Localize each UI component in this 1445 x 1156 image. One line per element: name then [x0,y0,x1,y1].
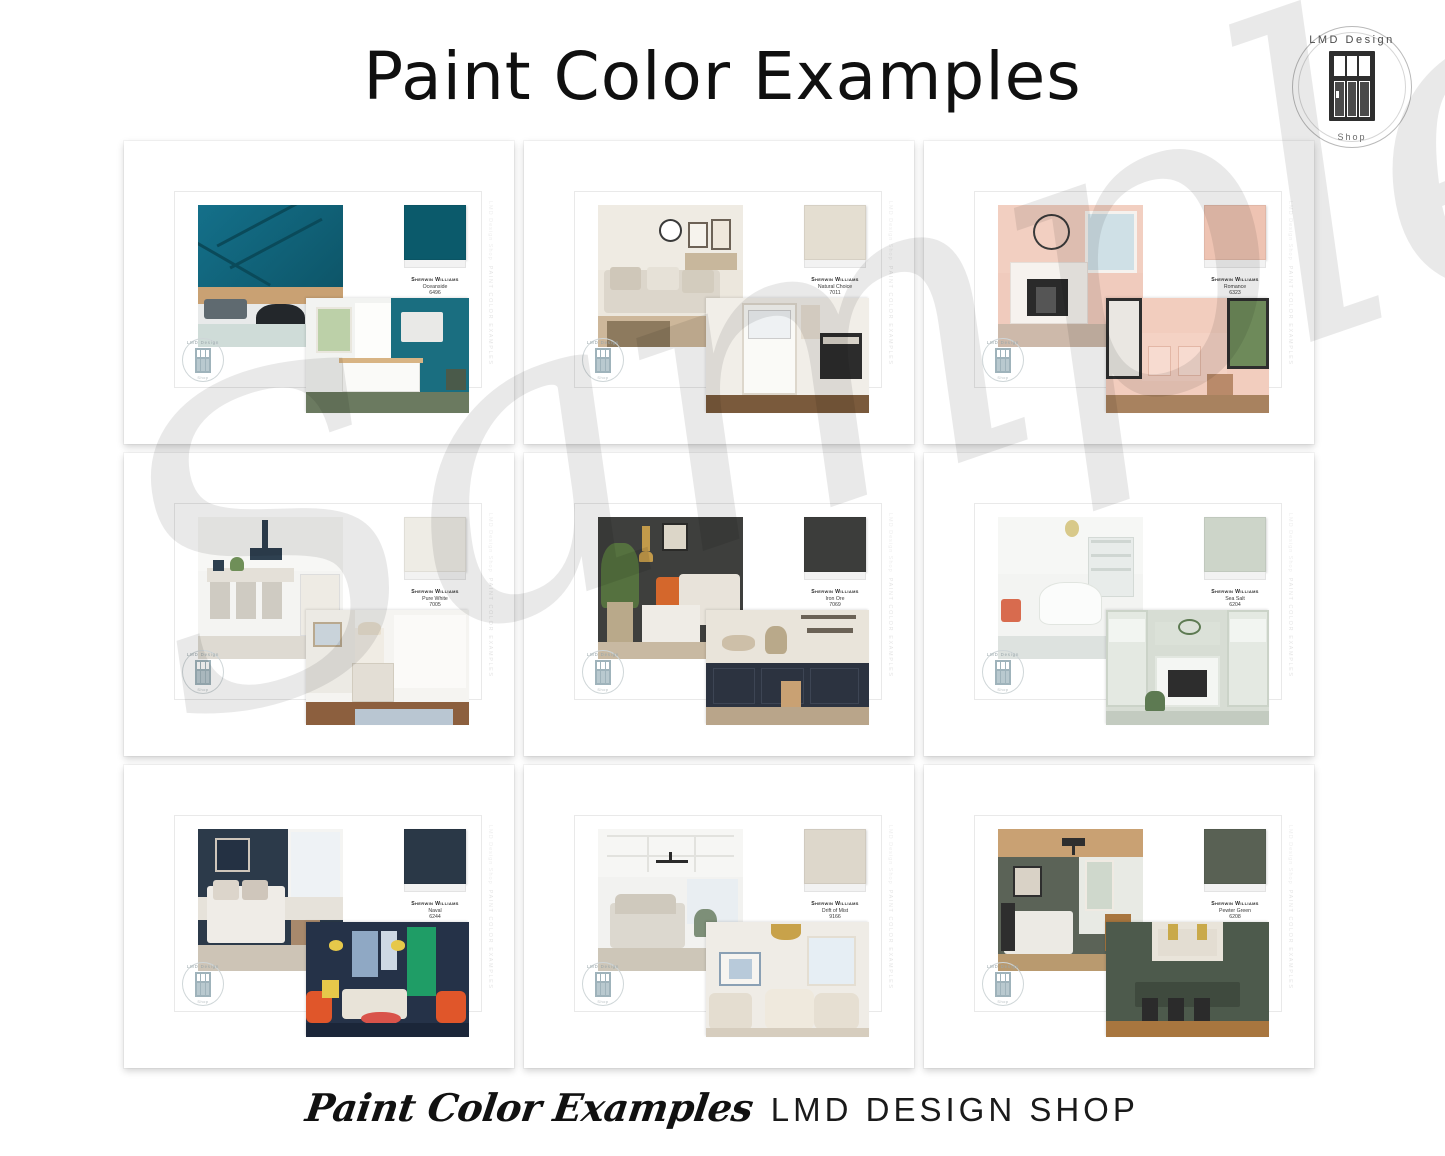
room-photo-secondary [1106,298,1269,413]
footer: Paint Color Examples LMD DESIGN SHOP [0,1085,1445,1130]
paint-color-card[interactable]: Sherwin Williams Sea Salt 6204 LMD Desig… [924,453,1314,756]
paint-brand: Sherwin Williams [1182,589,1288,595]
card-side-text: LMD Design Shop PAINT COLOR EXAMPLES [1287,201,1293,431]
paint-brand: Sherwin Williams [382,277,488,283]
paint-chip [404,829,466,895]
paint-brand: Sherwin Williams [382,901,488,907]
door-icon [595,660,611,685]
door-icon [195,660,211,685]
card-side-text: LMD Design Shop PAINT COLOR EXAMPLES [487,201,493,431]
paint-brand: Sherwin Williams [782,277,888,283]
card-side-text: LMD Design Shop PAINT COLOR EXAMPLES [1287,825,1293,1055]
card-lmd-logo: LMD Design Shop [982,962,1024,1006]
paint-color-code: 6244 [382,914,488,920]
room-photo-secondary [706,610,869,725]
paint-chip-label: Sherwin Williams Iron Ore 7069 [782,589,888,608]
paint-chip [804,829,866,895]
paint-chip-label: Sherwin Williams Naval 6244 [382,901,488,920]
room-photo-secondary [1106,922,1269,1037]
paint-color-card[interactable]: Sherwin Williams Oceanside 6496 LMD Desi… [124,141,514,444]
room-photo-secondary [306,610,469,725]
card-side-text: LMD Design Shop PAINT COLOR EXAMPLES [487,513,493,743]
paint-color-card[interactable]: Sherwin Williams Drift of Mist 9166 LMD … [524,765,914,1068]
paint-swatch [1204,517,1266,572]
paint-color-card[interactable]: Sherwin Williams Romance 6323 LMD Design… [924,141,1314,444]
paint-swatch [804,205,866,260]
card-side-text: LMD Design Shop PAINT COLOR EXAMPLES [887,201,893,431]
paint-color-card[interactable]: Sherwin Williams Iron Ore 7069 LMD Desig… [524,453,914,756]
paint-brand: Sherwin Williams [1182,277,1288,283]
paint-brand: Sherwin Williams [1182,901,1288,907]
paint-chip [804,205,866,271]
paint-swatch [1204,829,1266,884]
paint-chip-label: Sherwin Williams Romance 6323 [1182,277,1288,296]
card-side-text: LMD Design Shop PAINT COLOR EXAMPLES [887,513,893,743]
paint-chip [1204,829,1266,895]
paint-chip-label: Sherwin Williams Sea Salt 6204 [1182,589,1288,608]
paint-color-card[interactable]: Sherwin Williams Naval 6244 LMD Design S… [124,765,514,1068]
paint-swatch [804,829,866,884]
paint-color-code: 9166 [782,914,888,920]
room-photo-secondary [1106,610,1269,725]
room-photo-secondary [306,922,469,1037]
card-side-text: LMD Design Shop PAINT COLOR EXAMPLES [887,825,893,1055]
paint-brand: Sherwin Williams [382,589,488,595]
footer-script-text: Paint Color Examples [303,1085,756,1130]
door-icon [595,348,611,373]
door-icon [195,348,211,373]
paint-chip-label: Sherwin Williams Pure White 7005 [382,589,488,608]
card-lmd-logo: LMD Design Shop [582,962,624,1006]
paint-color-code: 7011 [782,290,888,296]
door-icon [995,660,1011,685]
card-lmd-logo: LMD Design Shop [582,338,624,382]
door-icon [1329,51,1375,121]
room-photo-secondary [706,298,869,413]
paint-chip-label: Sherwin Williams Natural Choice 7011 [782,277,888,296]
paint-chip [1204,205,1266,271]
paint-chip [804,517,866,583]
page-title: Paint Color Examples [0,38,1445,115]
paint-color-code: 6204 [1182,602,1288,608]
paint-chip-label: Sherwin Williams Pewter Green 6208 [1182,901,1288,920]
door-icon [195,972,211,997]
card-side-text: LMD Design Shop PAINT COLOR EXAMPLES [487,825,493,1055]
paint-brand: Sherwin Williams [782,589,888,595]
room-photo-secondary [706,922,869,1037]
door-icon [995,972,1011,997]
paint-color-card[interactable]: Sherwin Williams Pewter Green 6208 LMD D… [924,765,1314,1068]
room-photo-secondary [306,298,469,413]
paint-chip [404,205,466,271]
card-side-text: LMD Design Shop PAINT COLOR EXAMPLES [1287,513,1293,743]
footer-brand-text: LMD DESIGN SHOP [771,1091,1139,1129]
paint-chip [404,517,466,583]
paint-swatch [404,829,466,884]
paint-color-code: 6323 [1182,290,1288,296]
card-lmd-logo: LMD Design Shop [582,650,624,694]
door-icon [995,348,1011,373]
paint-color-code: 7005 [382,602,488,608]
card-lmd-logo: LMD Design Shop [182,962,224,1006]
paint-chip [1204,517,1266,583]
lmd-design-shop-logo: LMD Design Shop [1292,26,1412,148]
paint-chip-label: Sherwin Williams Drift of Mist 9166 [782,901,888,920]
paint-swatch [404,205,466,260]
door-icon [595,972,611,997]
paint-color-code: 6208 [1182,914,1288,920]
paint-color-card[interactable]: Sherwin Williams Natural Choice 7011 LMD… [524,141,914,444]
poster-page: Paint Color Examples LMD Design Shop [0,0,1445,1156]
paint-color-card[interactable]: Sherwin Williams Pure White 7005 LMD Des… [124,453,514,756]
card-lmd-logo: LMD Design Shop [182,338,224,382]
paint-brand: Sherwin Williams [782,901,888,907]
paint-swatch [1204,205,1266,260]
card-lmd-logo: LMD Design Shop [182,650,224,694]
paint-swatch [404,517,466,572]
paint-swatch [804,517,866,572]
paint-chip-label: Sherwin Williams Oceanside 6496 [382,277,488,296]
paint-color-card-grid: Sherwin Williams Oceanside 6496 LMD Desi… [124,141,1314,1069]
card-lmd-logo: LMD Design Shop [982,650,1024,694]
paint-color-code: 6496 [382,290,488,296]
paint-color-code: 7069 [782,602,888,608]
card-lmd-logo: LMD Design Shop [982,338,1024,382]
logo-top-text: LMD Design [1292,34,1412,46]
